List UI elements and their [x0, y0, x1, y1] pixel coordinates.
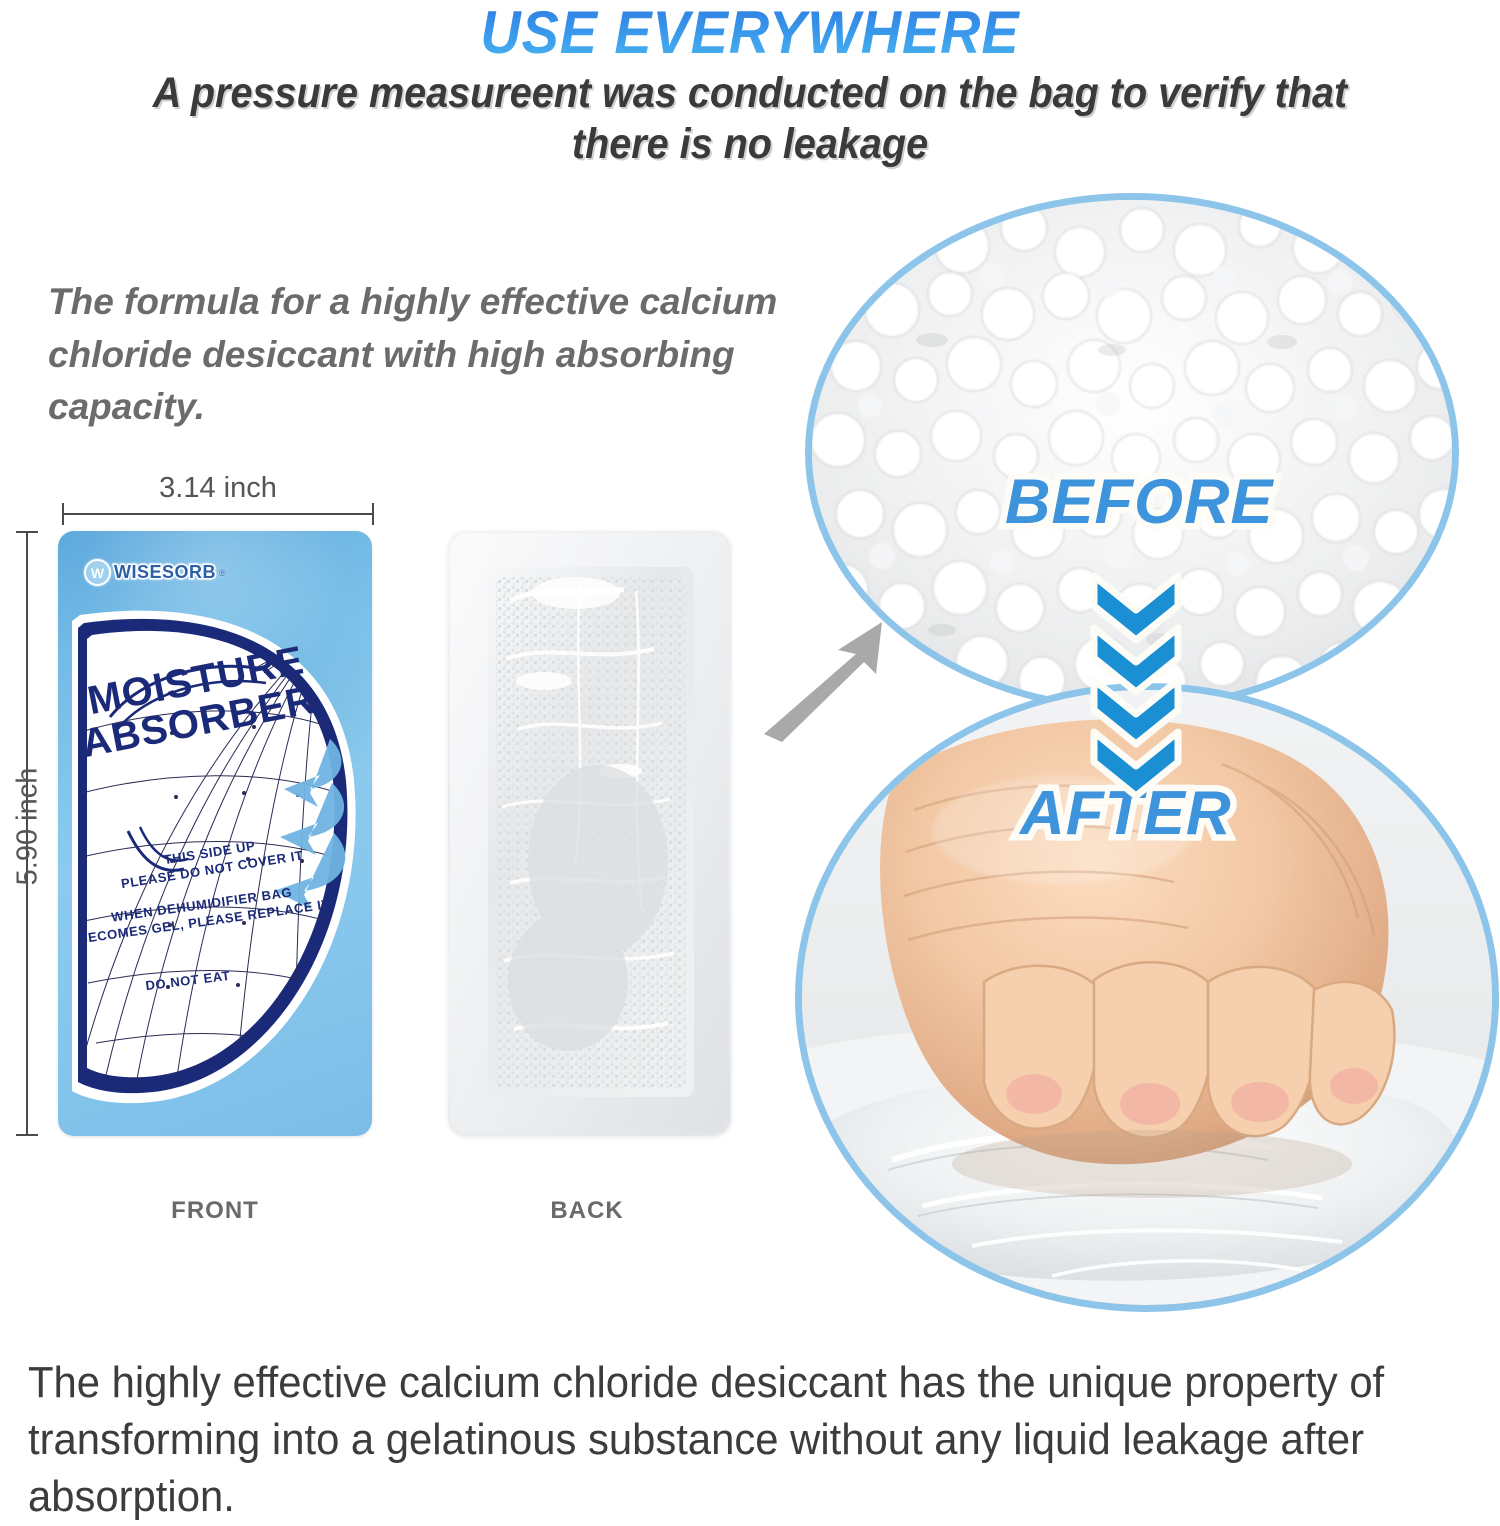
down-chevron-arrows-icon: [1072, 570, 1202, 800]
brand-name: WISESORB: [114, 562, 216, 583]
contact-shadow: [952, 1130, 1352, 1198]
chevron-1: [1094, 576, 1178, 640]
front-caption: FRONT: [58, 1197, 372, 1225]
dimension-width-line: [62, 513, 374, 515]
infographic-canvas: USE EVERYWHERE A pressure measureent was…: [0, 0, 1500, 1492]
lead-paragraph: The formula for a highly effective calci…: [48, 276, 818, 434]
product-front-package: W WISESORB ® MOISTURE ABSORBER THIS SIDE…: [58, 531, 372, 1136]
back-caption: BACK: [430, 1197, 744, 1225]
back-package-graphic: [448, 531, 731, 1136]
before-label-badge: BEFORE: [1005, 466, 1274, 538]
wisesorb-mark-icon: W: [84, 559, 111, 586]
product-back-package: [448, 531, 731, 1136]
registered-mark: ®: [219, 568, 226, 578]
dimension-height-label: 5.90 inch: [12, 747, 45, 907]
page-title: USE EVERYWHERE: [53, 0, 1448, 67]
dimension-width-label: 3.14 inch: [62, 472, 374, 505]
pointer-arrow-icon: [760, 612, 900, 742]
brand-logo: W WISESORB ®: [84, 559, 226, 586]
footer-paragraph: The highly effective calcium chloride de…: [28, 1354, 1406, 1526]
page-subtitle: A pressure measureent was conducted on t…: [124, 68, 1375, 169]
